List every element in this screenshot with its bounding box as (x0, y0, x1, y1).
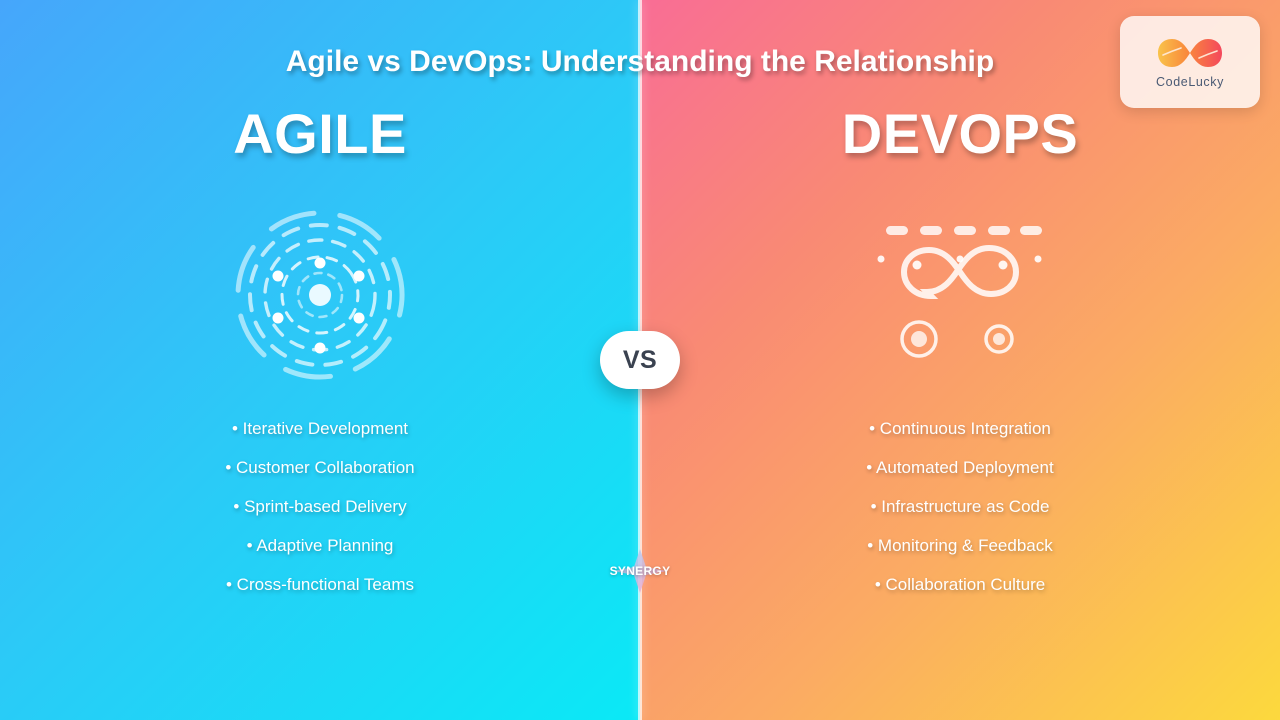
agile-orbit-icon (228, 200, 413, 390)
page-title: Agile vs DevOps: Understanding the Relat… (280, 42, 1000, 83)
infographic-canvas: Agile vs DevOps: Understanding the Relat… (0, 0, 1280, 720)
list-item: • Automated Deployment (866, 459, 1053, 476)
infinity-leaf-logo-icon (1154, 35, 1226, 71)
brand-badge[interactable]: CodeLucky (1120, 16, 1260, 108)
devops-heading: DEVOPS (640, 101, 1280, 166)
list-item: • Iterative Development (232, 420, 408, 437)
vs-badge: VS (600, 331, 680, 389)
synergy-label: SYNERGY (610, 564, 671, 578)
list-item: • Adaptive Planning (247, 537, 394, 554)
devops-feature-list: • Continuous Integration • Automated Dep… (640, 420, 1280, 593)
list-item: • Sprint-based Delivery (233, 498, 406, 515)
devops-infinity-icon (868, 200, 1053, 390)
list-item: • Continuous Integration (869, 420, 1051, 437)
synergy-marker: SYNERGY (600, 556, 680, 586)
agile-heading: AGILE (0, 101, 640, 166)
list-item: • Monitoring & Feedback (867, 537, 1053, 554)
list-item: • Collaboration Culture (875, 576, 1045, 593)
list-item: • Infrastructure as Code (871, 498, 1050, 515)
agile-feature-list: • Iterative Development • Customer Colla… (0, 420, 640, 593)
list-item: • Customer Collaboration (225, 459, 414, 476)
brand-name: CodeLucky (1156, 75, 1224, 89)
list-item: • Cross-functional Teams (226, 576, 414, 593)
